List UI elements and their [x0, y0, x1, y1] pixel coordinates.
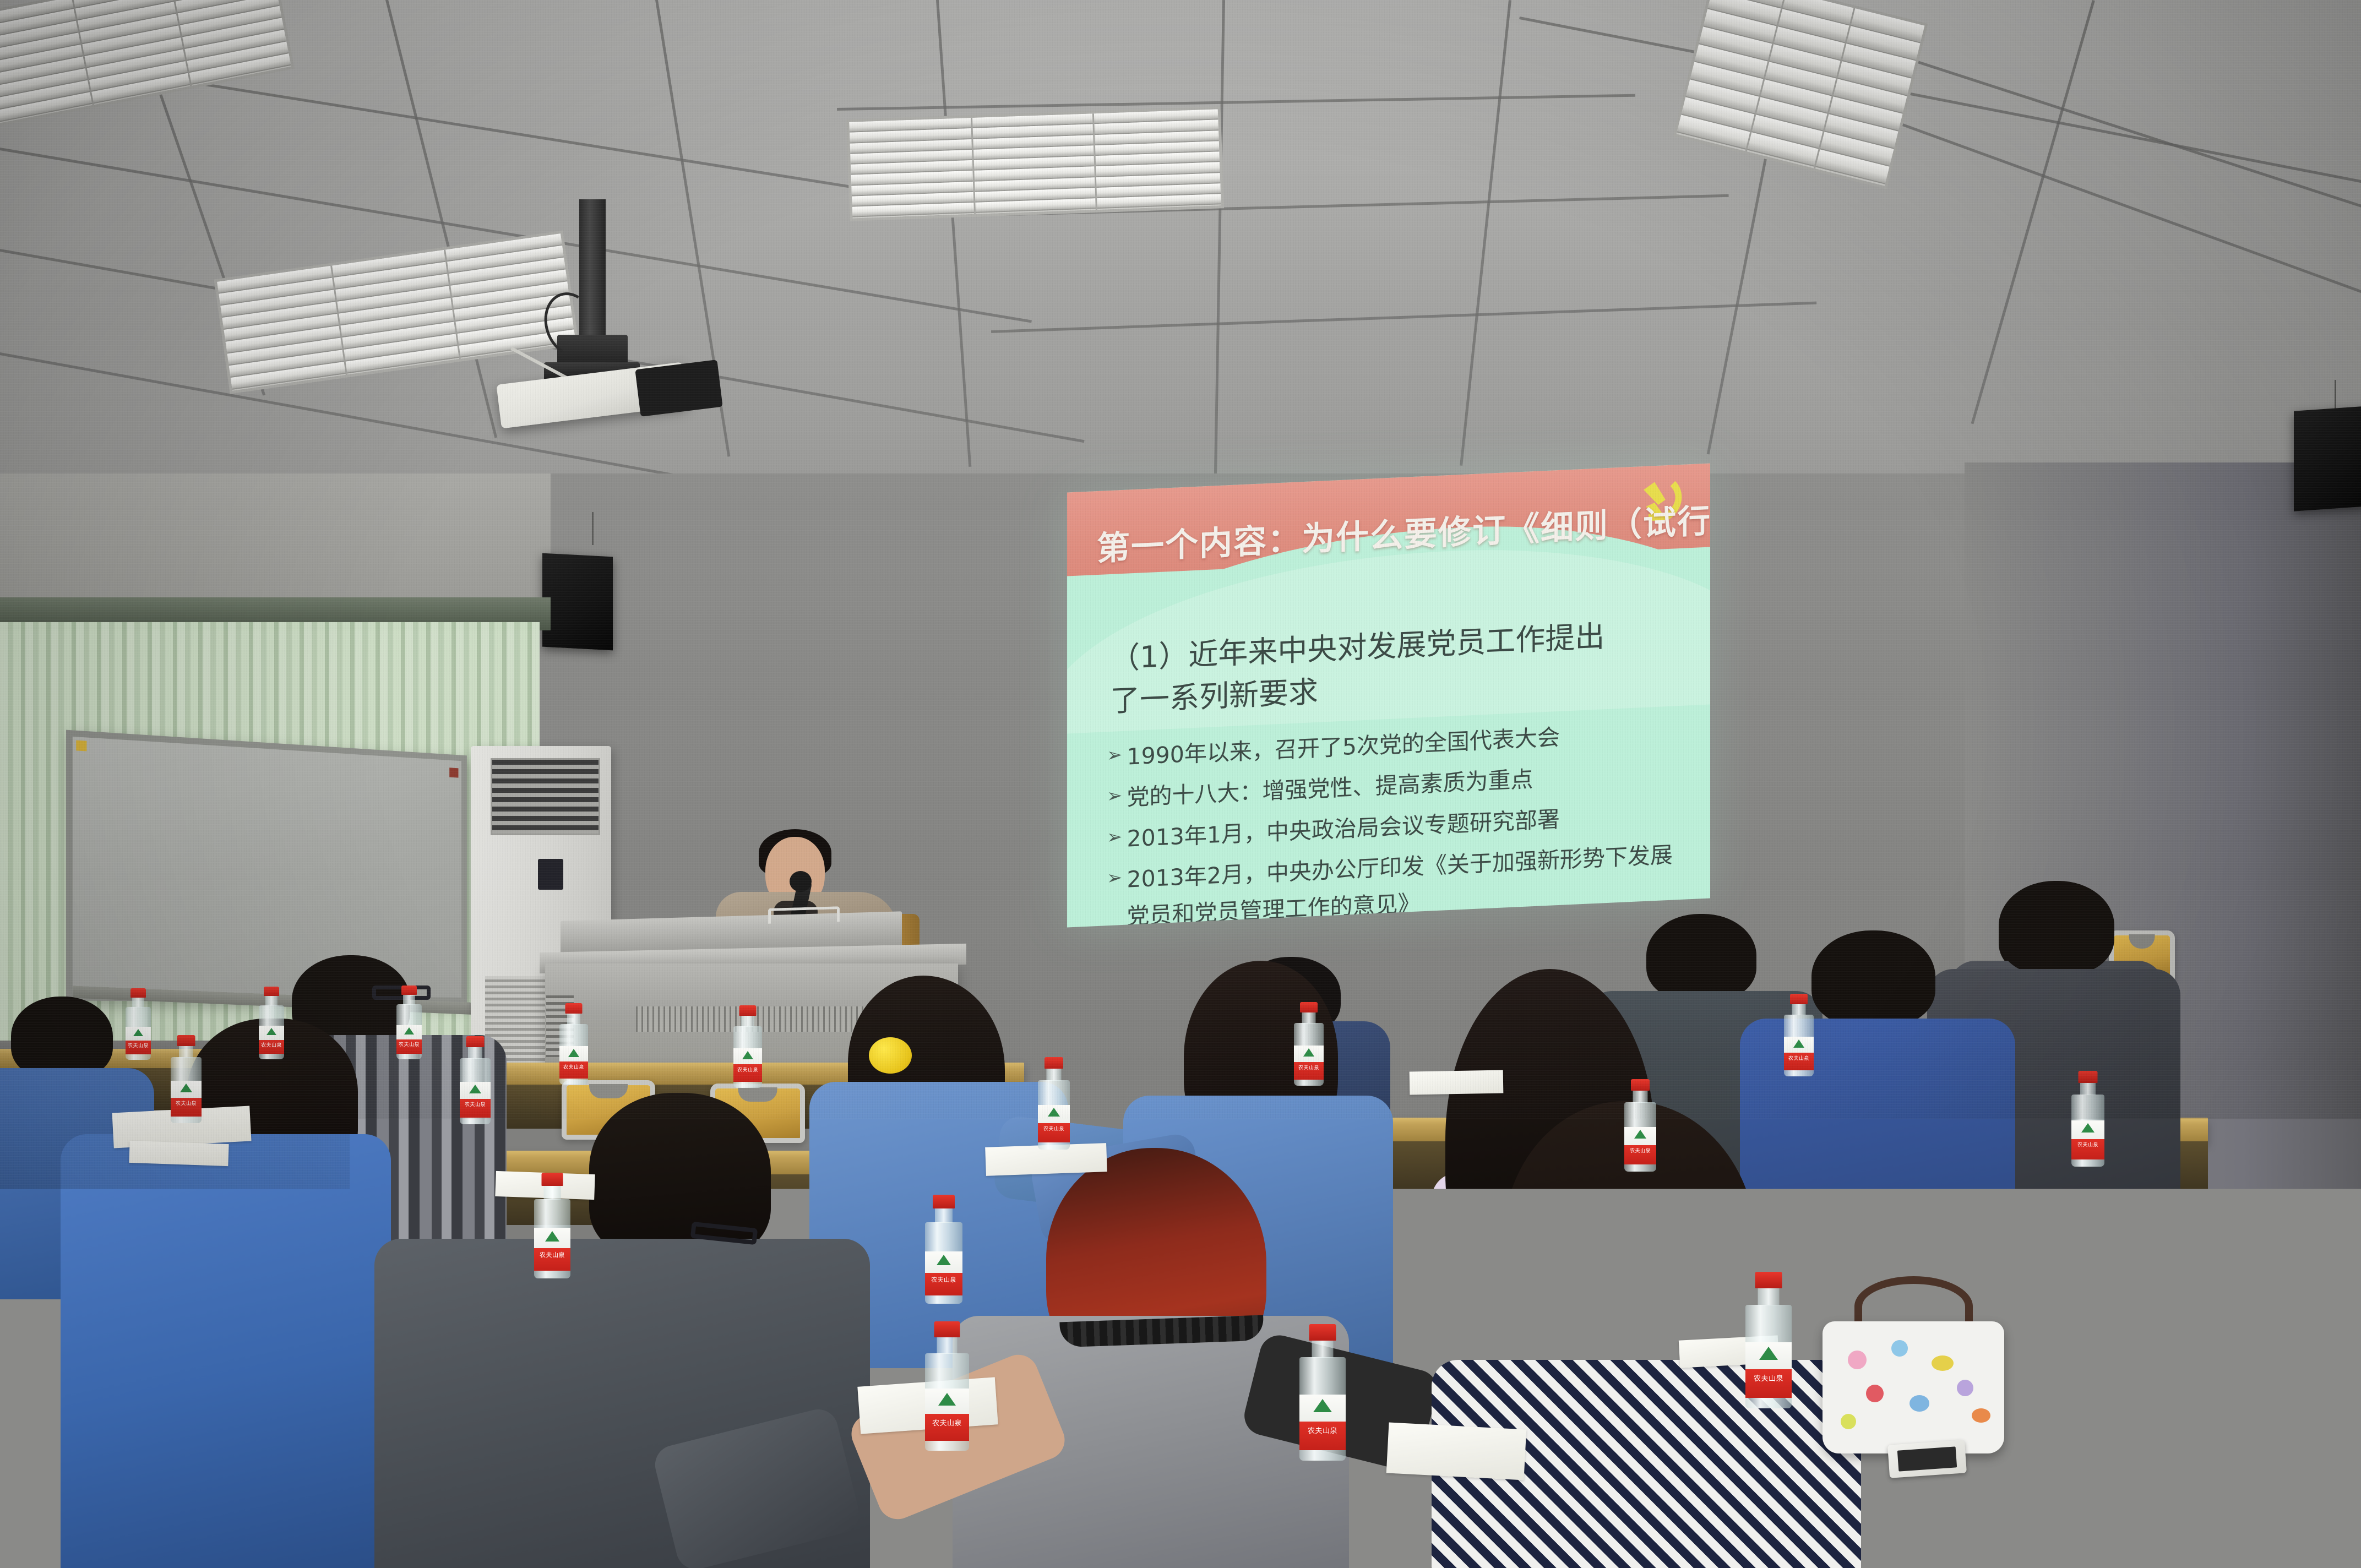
bottle-brand-text: 农夫山泉 [126, 1042, 151, 1049]
bottle-label-upper [733, 1048, 762, 1064]
bottle-logo-icon [469, 1085, 481, 1093]
whiteboard-corner-marker [449, 767, 458, 777]
bottle-brand-text: 农夫山泉 [534, 1250, 570, 1259]
bag-print-dot [1932, 1355, 1954, 1371]
bottle-brand-text: 农夫山泉 [1624, 1147, 1656, 1154]
projector-lens-housing [635, 360, 722, 417]
water-bottle[interactable]: 农夫山泉 [534, 1173, 570, 1278]
bottle-neck [1633, 1091, 1648, 1103]
bottle-brand-text: 农夫山泉 [460, 1101, 491, 1108]
bottle-cap [565, 1003, 583, 1014]
whiteboard [66, 730, 467, 1004]
bottle-brand-text: 农夫山泉 [1784, 1054, 1814, 1061]
bottle-label-lower: 农夫山泉 [396, 1039, 422, 1054]
bottle-cap [130, 988, 146, 998]
bullet-arrow-icon: ➢ [1107, 821, 1123, 858]
water-bottle[interactable]: 农夫山泉 [171, 1035, 202, 1123]
bottle-logo-icon [1303, 1048, 1314, 1057]
hair [1811, 930, 1935, 1027]
classroom-scene: 第一个内容：为什么要修订《细则（试行）》 （1）近年来中央对发展党员工作提出了一… [0, 0, 2361, 1568]
bottle-body: 农夫山泉 [733, 1026, 762, 1088]
water-bottle[interactable]: 农夫山泉 [733, 1005, 762, 1088]
bottle-label-lower: 农夫山泉 [2071, 1139, 2104, 1159]
bottle-logo-icon [180, 1084, 192, 1092]
bottle-logo-icon [133, 1029, 143, 1036]
bottle-label-lower: 农夫山泉 [1624, 1145, 1656, 1164]
bottle-label-upper [396, 1025, 422, 1039]
hair [11, 997, 113, 1079]
bottle-cap [2079, 1071, 2098, 1083]
bag-print-dot [1866, 1385, 1884, 1402]
water-bottle[interactable]: 农夫山泉 [2071, 1071, 2104, 1167]
bottle-neck [468, 1047, 482, 1059]
ac-control-panel[interactable] [538, 859, 563, 890]
bottle-cap [1631, 1079, 1650, 1091]
bottle-cap [401, 986, 417, 995]
bottle-logo-icon [266, 1028, 276, 1035]
suspended-ceiling [0, 0, 2361, 496]
bottle-label-upper [1613, 1262, 1651, 1283]
bottle-label-upper [1624, 1127, 1656, 1145]
bottle-brand-text: 农夫山泉 [259, 1041, 284, 1048]
bottle-brand-text: 农夫山泉 [733, 1066, 762, 1073]
yellow-hair-scrunchie [869, 1037, 912, 1074]
bottle-brand-text: 农夫山泉 [171, 1099, 202, 1107]
bullet-arrow-icon: ➢ [1107, 739, 1123, 776]
bottle-neck [403, 995, 415, 1005]
bottle-label-lower: 农夫山泉 [2065, 1324, 2106, 1348]
bottle-cap [1755, 1272, 1782, 1288]
bottle-label-lower: 农夫山泉 [171, 1098, 202, 1117]
ceiling-light-fixture [0, 0, 295, 127]
bottle-brand-text: 农夫山泉 [1294, 1064, 1324, 1071]
water-bottle[interactable]: 农夫山泉 [1038, 1057, 1070, 1150]
bottle-cap [1045, 1057, 1063, 1069]
bottle-cap [542, 1173, 563, 1186]
bottle-label-lower: 农夫山泉 [1294, 1062, 1324, 1080]
water-bottle[interactable]: 农夫山泉 [1624, 1079, 1656, 1172]
bottle-logo-icon [545, 1231, 559, 1242]
bottle-logo-icon [2077, 1304, 2093, 1316]
water-bottle[interactable]: 农夫山泉 [460, 1036, 491, 1124]
bottle-brand-text: 农夫山泉 [559, 1063, 588, 1070]
water-bottle[interactable]: 农夫山泉 [126, 988, 151, 1060]
ceiling-light-fixture [214, 230, 579, 394]
wall-speaker-right [2294, 406, 2361, 511]
bottle-label-lower: 农夫山泉 [559, 1061, 588, 1079]
bullet-arrow-icon: ➢ [1107, 862, 1123, 927]
bottle-body: 农夫山泉 [126, 1007, 151, 1060]
bottle-neck [1623, 1219, 1641, 1234]
slide-bullet-list: ➢ 1990年以来，召开了5次党的全国代表大会 ➢ 党的十八大：增强党性、提高素… [1107, 713, 1690, 927]
bottle-body: 农夫山泉 [1784, 1015, 1814, 1076]
bottle-label-upper [1038, 1105, 1070, 1123]
bottle-label-upper [925, 1389, 969, 1414]
bottle-label-lower: 农夫山泉 [1745, 1369, 1792, 1398]
bottle-cap [466, 1036, 485, 1047]
water-bottle[interactable]: 农夫山泉 [559, 1003, 588, 1085]
projection-screen: 第一个内容：为什么要修订《细则（试行）》 （1）近年来中央对发展党员工作提出了一… [1067, 463, 1710, 927]
ac-intake-grille [491, 758, 600, 835]
bottle-brand-text: 农夫山泉 [2071, 1141, 2104, 1148]
bottle-brand-text: 农夫山泉 [1745, 1373, 1792, 1383]
bottle-body: 农夫山泉 [925, 1222, 962, 1304]
bottle-neck [1792, 1004, 1806, 1015]
bottle-cap [1621, 1206, 1643, 1219]
bottle-body: 农夫山泉 [1038, 1080, 1070, 1150]
bottle-neck [2076, 1254, 2095, 1269]
bottle-body: 农夫山泉 [1624, 1102, 1656, 1172]
bottle-cap [739, 1005, 757, 1016]
bottle-label-upper [925, 1251, 962, 1272]
bottle-cap [933, 1195, 955, 1208]
bottle-logo-icon [1634, 1130, 1646, 1139]
water-bottle[interactable]: 农夫山泉 [396, 986, 422, 1059]
bottle-body: 农夫山泉 [559, 1024, 588, 1085]
bottle-logo-icon [1759, 1347, 1778, 1360]
water-bottle[interactable]: 农夫山泉 [1294, 1002, 1324, 1086]
bottle-label-upper [171, 1081, 202, 1098]
whiteboard-corner-marker [76, 741, 86, 752]
bottle-cap [264, 987, 279, 996]
bottle-logo-icon [742, 1051, 753, 1059]
bottle-label-upper [259, 1026, 284, 1039]
microphone-head-icon [790, 871, 812, 892]
bottle-label-upper [1784, 1037, 1814, 1053]
bottle-neck [132, 998, 144, 1008]
floor [0, 1425, 2361, 1568]
hair [1999, 881, 2114, 974]
bottle-body: 农夫山泉 [1613, 1233, 1651, 1315]
bottle-label-upper [1294, 1046, 1324, 1062]
bag-print-dot [1891, 1340, 1908, 1357]
bottle-brand-text: 农夫山泉 [396, 1041, 422, 1048]
bottle-logo-icon [938, 1393, 956, 1406]
loose-paper [129, 1141, 229, 1166]
bottle-neck [935, 1208, 953, 1223]
bottle-logo-icon [404, 1027, 414, 1035]
bottle-label-lower: 农夫山泉 [460, 1099, 491, 1118]
hair [1646, 914, 1756, 1001]
wall-speaker-left [542, 553, 613, 651]
bottle-label-upper [2065, 1300, 2106, 1324]
bottle-neck [1312, 1341, 1334, 1358]
bottle-logo-icon [1625, 1266, 1639, 1276]
water-bottle[interactable]: 农夫山泉 [259, 987, 284, 1059]
podium-lid-handle[interactable] [768, 906, 840, 924]
bottle-label-lower: 农夫山泉 [259, 1040, 284, 1054]
bottle-label-lower: 农夫山泉 [1613, 1284, 1651, 1306]
bag-print-dot [1957, 1380, 1973, 1396]
bottle-neck [1047, 1069, 1062, 1081]
bottle-cap [177, 1035, 195, 1046]
bottle-label-upper [1299, 1395, 1346, 1422]
bottle-logo-icon [1313, 1399, 1332, 1412]
bottle-label-upper [559, 1046, 588, 1062]
bottle-neck [1758, 1288, 1780, 1305]
speaker-wire [592, 512, 594, 545]
ceiling-light-fixture [1673, 0, 1928, 189]
bottle-label-upper [126, 1027, 151, 1041]
bottle-label-lower: 农夫山泉 [733, 1064, 762, 1081]
bottle-label-lower: 农夫山泉 [1784, 1053, 1814, 1070]
bottle-logo-icon [1048, 1108, 1060, 1117]
bottle-neck [179, 1046, 193, 1058]
bottle-label-lower: 农夫山泉 [126, 1041, 151, 1054]
bottle-brand-text: 农夫山泉 [2065, 1326, 2106, 1336]
bottle-cap [1790, 994, 1808, 1004]
bottle-logo-icon [2081, 1123, 2095, 1133]
bottle-body: 农夫山泉 [534, 1199, 570, 1278]
bottle-body: 农夫山泉 [259, 1005, 284, 1059]
bottle-brand-text: 农夫山泉 [1613, 1286, 1651, 1295]
torso [1740, 1019, 2015, 1310]
bottle-brand-text: 农夫山泉 [1038, 1125, 1070, 1132]
bottle-label-upper [460, 1082, 491, 1099]
left-wall-upper [0, 473, 551, 606]
bag-print-dot [1910, 1395, 1929, 1412]
speaker-wire [2335, 380, 2336, 412]
chair-back-notch [2129, 934, 2155, 949]
bag-print-dot [1972, 1408, 1990, 1423]
water-bottle[interactable]: 农夫山泉 [2065, 1239, 2106, 1357]
bottle-label-upper [1745, 1342, 1792, 1369]
bottle-neck [741, 1016, 754, 1027]
bottle-body: 农夫山泉 [460, 1058, 491, 1124]
bottle-neck [544, 1186, 561, 1200]
bottle-label-upper [534, 1228, 570, 1248]
water-bottle[interactable]: 农夫山泉 [1784, 994, 1814, 1076]
bottle-logo-icon [1793, 1039, 1804, 1048]
bottle-neck [265, 996, 278, 1006]
bottle-logo-icon [937, 1255, 951, 1265]
water-bottle[interactable]: 农夫山泉 [1745, 1272, 1792, 1408]
bottle-cap [2073, 1239, 2097, 1254]
chair-back-notch [589, 1084, 628, 1098]
bottle-neck [2080, 1083, 2096, 1095]
bottle-body: 农夫山泉 [1294, 1023, 1324, 1086]
bottle-label-lower: 农夫山泉 [1038, 1123, 1070, 1142]
bottle-body: 农夫山泉 [396, 1004, 422, 1059]
bottle-neck [937, 1337, 958, 1354]
bottle-body: 农夫山泉 [2065, 1268, 2106, 1357]
bottle-cap [934, 1321, 960, 1337]
bottle-body: 农夫山泉 [171, 1057, 202, 1123]
loose-paper [1410, 1070, 1504, 1095]
bottle-cap [1300, 1002, 1318, 1012]
bottle-cap [1309, 1324, 1336, 1341]
bottle-body: 农夫山泉 [1745, 1305, 1792, 1408]
presentation-slide: 第一个内容：为什么要修订《细则（试行）》 （1）近年来中央对发展党员工作提出了一… [1067, 463, 1710, 927]
chair-back-notch [738, 1087, 777, 1102]
bag-print-dot [1848, 1351, 1867, 1369]
bottle-label-lower: 农夫山泉 [925, 1273, 962, 1295]
bottle-brand-text: 农夫山泉 [925, 1275, 962, 1284]
bottle-label-upper [2071, 1120, 2104, 1139]
bottle-body: 农夫山泉 [2071, 1095, 2104, 1167]
bullet-arrow-icon: ➢ [1107, 780, 1123, 817]
bottle-neck [567, 1014, 580, 1025]
water-bottle[interactable]: 农夫山泉 [1613, 1206, 1651, 1315]
water-bottle[interactable]: 农夫山泉 [925, 1195, 962, 1304]
bottle-neck [1302, 1012, 1316, 1023]
bottle-logo-icon [568, 1049, 579, 1057]
bottle-label-lower: 农夫山泉 [534, 1248, 570, 1270]
ceiling-light-fixture [846, 106, 1224, 221]
